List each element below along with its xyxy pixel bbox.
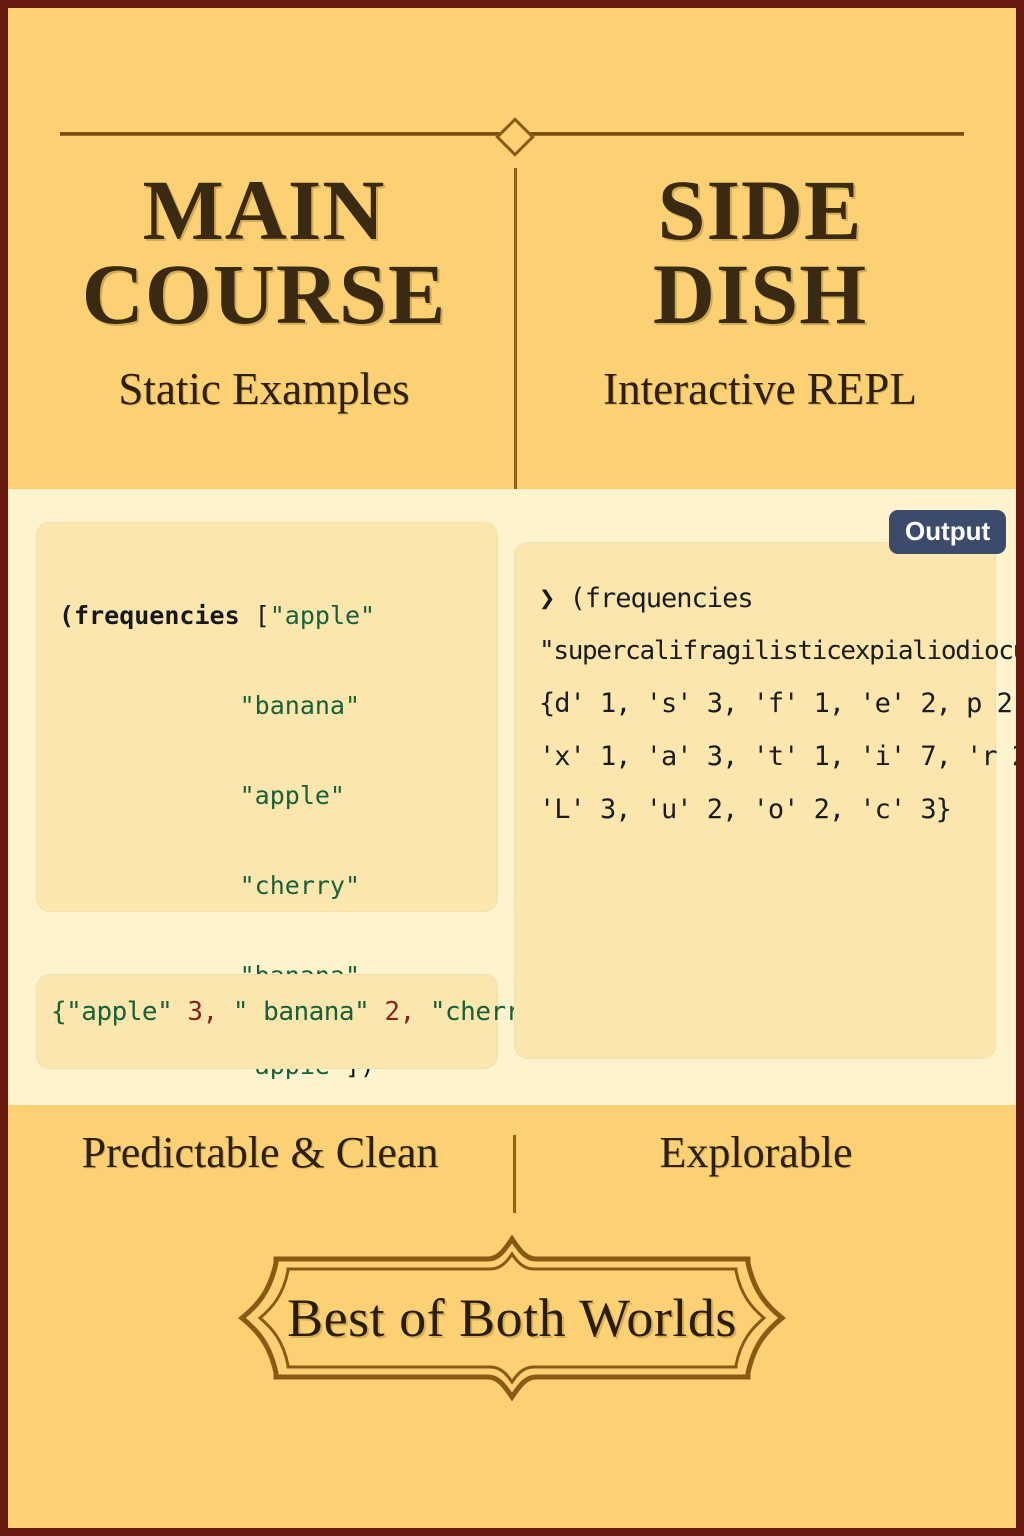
side-dish-subtitle: Interactive REPL: [520, 367, 1000, 412]
header-column-side-dish: SIDE DISH Interactive REPL: [520, 168, 1000, 412]
pane-side-dish: Output ❯ (frequencies "supercalifragilis…: [506, 489, 1016, 1105]
main-course-subtitle: Static Examples: [24, 367, 504, 412]
diamond-ornament-icon: [495, 117, 535, 157]
result-key-1: "apple": [66, 997, 172, 1027]
result-key-2: " banana": [233, 997, 369, 1027]
poster-canvas: MAIN COURSE Static Examples SIDE DISH In…: [8, 8, 1016, 1528]
repl-line-3: {d' 1, 's' 3, 'f' 1, 'e' 2, p 2,: [539, 688, 977, 719]
string-token-2: "banana": [240, 691, 360, 720]
output-badge: Output: [889, 510, 1006, 554]
banner-label: Best of Both Worlds: [198, 1233, 826, 1403]
pane-main-course: (frequencies ["apple" "banana" "apple" "…: [8, 489, 506, 1105]
repl-line-2: "supercalifragilisticexpialiodiocús": [539, 636, 977, 666]
side-dish-title-line2: DISH: [520, 252, 1000, 336]
header-section: MAIN COURSE Static Examples SIDE DISH In…: [8, 8, 1016, 489]
code-line-4: "cherry": [59, 873, 475, 898]
main-course-title-line1: MAIN: [24, 168, 504, 252]
string-token-1: "apple": [270, 601, 375, 630]
side-dish-title-line1: SIDE: [520, 168, 1000, 252]
ornamental-divider: [60, 114, 964, 154]
footer-section: Predictable & Clean Explorable Best of B…: [8, 1105, 1016, 1528]
bracket-open-token: [: [255, 601, 270, 630]
header-column-main-course: MAIN COURSE Static Examples: [24, 168, 504, 412]
result-map: {"apple" 3, " banana" 2, "cherry" 1: [51, 997, 483, 1027]
result-count-1: 3: [187, 997, 202, 1027]
static-example-result-box: {"apple" 3, " banana" 2, "cherry" 1: [36, 974, 498, 1069]
tagline-row: Predictable & Clean Explorable: [8, 1127, 1016, 1207]
repl-output-box: ❯ (frequencies "supercalifragilisticexpi…: [514, 542, 996, 1059]
result-comma-2: ,: [400, 997, 415, 1027]
code-line-1: (frequencies ["apple": [59, 603, 475, 628]
string-token-4: "cherry": [240, 871, 360, 900]
result-count-2: 2: [384, 997, 399, 1027]
code-line-3: "apple": [59, 783, 475, 808]
header-column-divider: [514, 168, 517, 493]
string-token-3: "apple": [240, 781, 345, 810]
static-example-code-box: (frequencies ["apple" "banana" "apple" "…: [36, 522, 498, 912]
fn-token: (frequencies: [59, 601, 240, 630]
content-section: (frequencies ["apple" "banana" "apple" "…: [8, 489, 1016, 1105]
repl-line-4: 'x' 1, 'a' 3, 't' 1, 'i' 7, 'r 2,: [539, 741, 977, 772]
repl-line-1: ❯ (frequencies: [539, 583, 977, 614]
code-line-2: "banana": [59, 693, 475, 718]
result-comma-1: ,: [203, 997, 218, 1027]
tagline-side-dish: Explorable: [516, 1127, 996, 1178]
result-open-brace: {: [51, 997, 66, 1027]
main-course-title-line2: COURSE: [24, 252, 504, 336]
repl-line-5: 'L' 3, 'u' 2, 'o' 2, 'c' 3}: [539, 794, 977, 825]
tagline-main-course: Predictable & Clean: [20, 1127, 500, 1178]
best-of-both-worlds-banner: Best of Both Worlds: [198, 1233, 826, 1403]
